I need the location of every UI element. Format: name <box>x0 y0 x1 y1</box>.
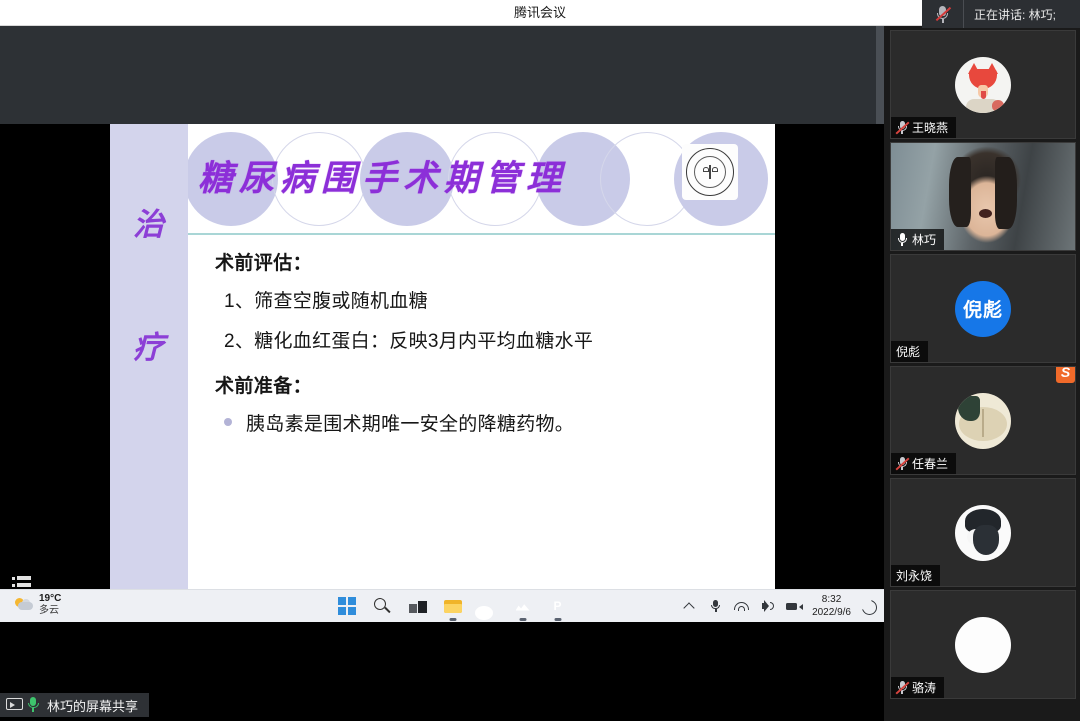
camera-icon[interactable] <box>786 599 801 614</box>
participant-name: 林巧 <box>912 231 936 248</box>
participant-tile[interactable]: 倪彪 倪彪 <box>890 254 1076 363</box>
weather-description: 多云 <box>39 605 61 617</box>
taskbar-app-icons <box>338 590 568 623</box>
participant-label: 林巧 <box>891 229 944 250</box>
participant-label: 倪彪 <box>891 341 928 362</box>
clock-time: 8:32 <box>812 594 851 607</box>
slide-vertical-sidebar: 治 疗 <box>110 124 188 589</box>
volume-icon[interactable] <box>760 599 775 614</box>
hat-photo-avatar <box>955 393 1011 449</box>
task-view-icon[interactable] <box>408 597 428 617</box>
speaking-mic-muted-icon <box>922 0 964 28</box>
title-divider-rule <box>188 233 775 235</box>
file-explorer-icon[interactable] <box>443 597 463 617</box>
section-heading-preop-assessment: 术前评估： <box>188 248 775 275</box>
mic-icon[interactable] <box>708 599 723 614</box>
fox-avatar-icon <box>955 57 1011 113</box>
participant-tile[interactable]: 骆涛 <box>890 590 1076 699</box>
slide-title-band: 糖尿病围手术期管理 <box>188 124 775 232</box>
participant-tile[interactable]: S 任春兰 <box>890 366 1076 475</box>
remote-desktop: 治 疗 糖尿病围手术期管理 <box>0 26 884 589</box>
participant-label: 刘永饶 <box>891 565 940 586</box>
screen-share-status-bar: 林巧的屏幕共享 <box>0 693 149 717</box>
speaking-status-pill: 正在讲话: 林巧; <box>922 0 1080 28</box>
sogou-input-badge: S <box>1056 366 1075 383</box>
sidebar-char-1: 治 <box>133 199 165 244</box>
powerpoint-scroll-edge <box>876 26 884 124</box>
participant-tile[interactable]: 刘永饶 <box>890 478 1076 587</box>
meeting-window: 腾讯会议 正在讲话: 林巧; 治 疗 <box>0 0 1080 721</box>
window-titlebar: 腾讯会议 <box>0 0 1080 26</box>
mic-muted-icon <box>896 457 908 471</box>
weather-temperature: 19°C <box>39 593 61 605</box>
shared-screen-region[interactable]: 治 疗 糖尿病围手术期管理 <box>0 26 884 721</box>
participant-name: 王晓燕 <box>912 119 948 136</box>
participant-name: 倪彪 <box>896 343 920 360</box>
system-tray: 8:32 2022/9/6 <box>682 590 876 623</box>
speaking-status-text: 正在讲话: 林巧; <box>964 6 1080 23</box>
mic-active-icon <box>896 233 908 247</box>
initials-avatar: 倪彪 <box>955 281 1011 337</box>
participant-tile[interactable]: 林巧 <box>890 142 1076 251</box>
list-item: 1、筛查空腹或随机血糖 <box>188 286 775 313</box>
screen-share-icon <box>6 698 23 712</box>
app-title: 腾讯会议 <box>0 0 1080 26</box>
clock-date: 2022/9/6 <box>812 607 851 620</box>
mic-active-icon <box>26 697 40 713</box>
participant-name: 骆涛 <box>912 679 936 696</box>
slide-content-area: 糖尿病围手术期管理 <box>188 124 775 589</box>
wifi-icon[interactable] <box>734 599 749 614</box>
list-item-text: 胰岛素是围术期唯一安全的降糖药物。 <box>246 409 574 436</box>
list-item: 胰岛素是围术期唯一安全的降糖药物。 <box>188 409 775 436</box>
dog-photo-avatar <box>955 505 1011 561</box>
mic-muted-icon <box>896 121 908 135</box>
participant-name: 任春兰 <box>912 455 948 472</box>
list-item: 2、糖化血红蛋白：反映3月内平均血糖水平 <box>188 326 775 353</box>
powerpoint-icon[interactable] <box>548 597 568 617</box>
chevron-up-icon[interactable] <box>682 599 697 614</box>
mic-muted-icon <box>896 681 908 695</box>
screen-share-label: 林巧的屏幕共享 <box>47 696 138 715</box>
powerpoint-top-band <box>0 26 884 124</box>
participant-label: 任春兰 <box>891 453 956 474</box>
participant-label: 王晓燕 <box>891 117 956 138</box>
participant-name: 刘永饶 <box>896 567 932 584</box>
slide-body: 术前评估： 1、筛查空腹或随机血糖 2、糖化血红蛋白：反映3月内平均血糖水平 术… <box>188 248 775 436</box>
sidebar-char-2: 疗 <box>133 322 165 367</box>
slide-title: 糖尿病围手术期管理 <box>198 150 618 201</box>
edge-icon[interactable] <box>478 597 498 617</box>
start-button[interactable] <box>338 597 358 617</box>
taskbar-clock[interactable]: 8:32 2022/9/6 <box>812 594 851 619</box>
partly-cloudy-icon <box>14 597 34 613</box>
participant-tile[interactable]: 王晓燕 <box>890 30 1076 139</box>
blank-white-avatar <box>955 617 1011 673</box>
participant-label: 骆涛 <box>891 677 944 698</box>
moon-icon[interactable] <box>862 600 876 614</box>
university-seal-logo <box>682 144 738 200</box>
weather-widget[interactable]: 19°C 多云 <box>14 593 61 616</box>
windows-taskbar: 19°C 多云 <box>0 589 884 622</box>
presentation-slide: 治 疗 糖尿病围手术期管理 <box>110 124 775 589</box>
chart-app-icon[interactable] <box>513 597 533 617</box>
search-icon[interactable] <box>373 597 393 617</box>
bullet-dot-icon <box>224 418 232 426</box>
section-heading-preop-preparation: 术前准备： <box>188 371 775 398</box>
participant-list[interactable]: 王晓燕 林巧 倪彪 倪彪 <box>884 28 1080 721</box>
